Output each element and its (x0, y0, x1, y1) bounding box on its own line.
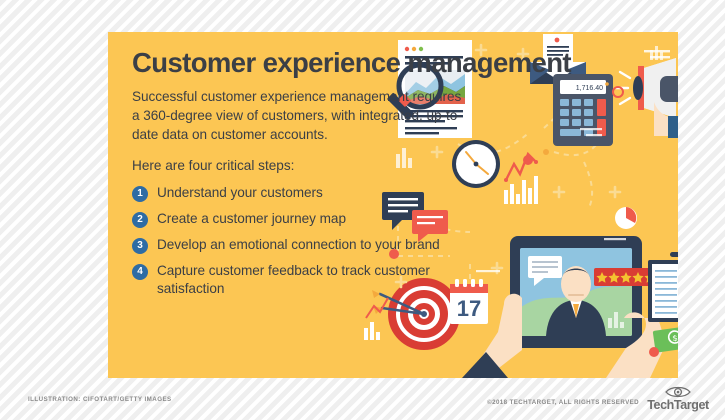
steps-list: 1 Understand your customers 2 Create a c… (132, 184, 462, 298)
step-number-badge: 4 (132, 264, 148, 280)
list-item: 4 Capture customer feedback to track cus… (132, 262, 462, 298)
step-number-badge: 1 (132, 186, 148, 202)
pie-chart-icon (615, 207, 637, 229)
svg-text:1,716.40: 1,716.40 (576, 85, 603, 92)
copyright-notice: ©2018 TECHTARGET, ALL RIGHTS RESERVED (487, 399, 639, 406)
notebook-icon (648, 252, 678, 322)
step-number-badge: 2 (132, 212, 148, 228)
step-label: Understand your customers (157, 184, 323, 202)
techtarget-logo: TechTarget (643, 386, 713, 414)
bar-chart-icon (504, 176, 538, 204)
text-column: Customer experience management Successfu… (132, 48, 462, 306)
content-card: 1,716.40 (108, 32, 678, 378)
calculator-icon: 1,716.40 (553, 74, 613, 146)
step-label: Create a customer journey map (157, 210, 346, 228)
list-item: 1 Understand your customers (132, 184, 462, 202)
list-item: 3 Develop an emotional connection to you… (132, 236, 462, 254)
tablet-video-call-icon (462, 236, 666, 378)
lede-paragraph: Successful customer experience managemen… (132, 87, 462, 144)
star-rating-icon (594, 268, 656, 286)
illustration-credit: ILLUSTRATION: CIFOTART/GETTY IMAGES (28, 396, 172, 403)
page-title: Customer experience management (132, 48, 462, 78)
megaphone-in-hand-icon (616, 50, 678, 138)
steps-intro: Here are four critical steps: (132, 157, 462, 175)
eye-icon (665, 386, 691, 398)
list-item: 2 Create a customer journey map (132, 210, 462, 228)
step-label: Develop an emotional connection to your … (157, 236, 440, 254)
step-number-badge: 3 (132, 238, 148, 254)
step-label: Capture customer feedback to track custo… (157, 262, 462, 298)
infographic-page: 1,716.40 (0, 0, 725, 420)
techtarget-wordmark: TechTarget (643, 399, 713, 412)
line-chart-icon (504, 154, 538, 182)
